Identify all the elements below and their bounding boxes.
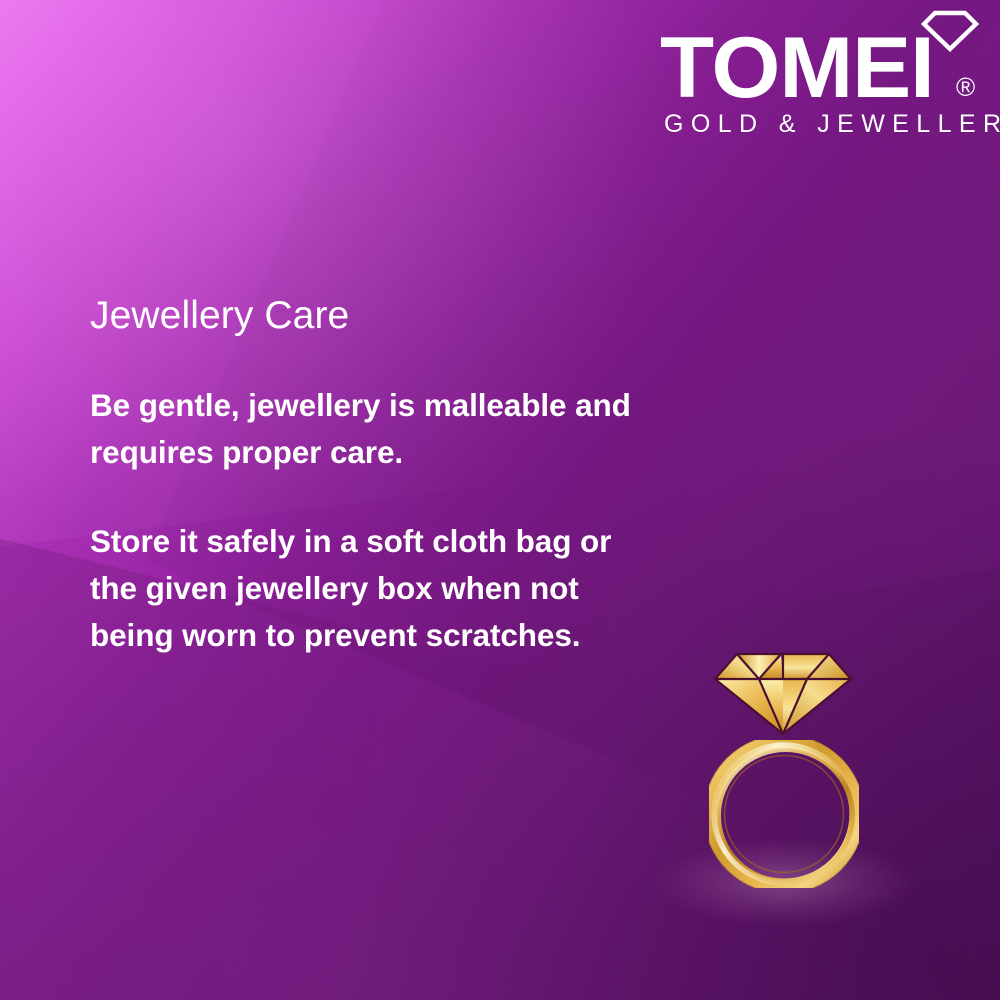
care-paragraph-2: Store it safely in a soft cloth bag or t… <box>90 518 638 659</box>
faceted-diamond-icon <box>713 648 853 736</box>
ring-band-icon <box>709 740 859 888</box>
tomei-logo: TOMEI GOLD & JEWELLERY <box>660 6 990 141</box>
copy-block: Jewellery Care Be gentle, jewellery is m… <box>90 292 650 659</box>
registered-trademark-mark: ® <box>956 74 975 100</box>
gold-diamond-ring-illustration <box>695 640 875 915</box>
brand-tagline: GOLD & JEWELLERY <box>664 110 1000 138</box>
care-paragraph-1: Be gentle, jewellery is malleable and re… <box>90 382 638 476</box>
page-title: Jewellery Care <box>90 292 650 340</box>
jewellery-care-poster: TOMEI GOLD & JEWELLERY ® Jewellery Care … <box>0 0 1000 1000</box>
brand-wordmark: TOMEI <box>660 30 969 106</box>
